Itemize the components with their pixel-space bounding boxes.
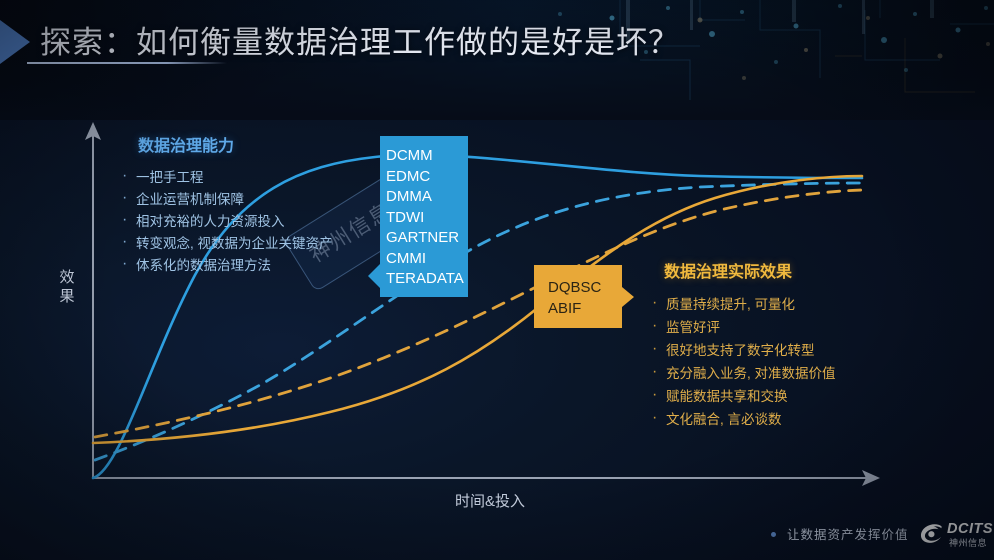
capability-bullet-list: 一把手工程 企业运营机制保障 相对充裕的人力资源投入 转变观念, 视数据为企业关… bbox=[120, 167, 370, 277]
list-item: 体系化的数据治理方法 bbox=[120, 255, 370, 277]
y-axis-label: 效果 bbox=[56, 268, 78, 306]
footer-bullet-icon bbox=[771, 532, 776, 537]
list-item: 监管好评 bbox=[650, 316, 900, 339]
list-item: EDMC bbox=[386, 167, 468, 188]
list-item: 充分融入业务, 对准数据价值 bbox=[650, 362, 900, 385]
effect-panel-title: 数据治理实际效果 bbox=[664, 258, 900, 282]
effect-panel: 数据治理实际效果 质量持续提升, 可量化 监管好评 很好地支持了数字化转型 充分… bbox=[650, 258, 900, 431]
metrics-callout-orange: DQBSC ABIF bbox=[534, 265, 634, 328]
list-item: DMMA bbox=[386, 187, 468, 208]
dcits-swoosh-icon bbox=[920, 523, 944, 545]
list-item: 企业运营机制保障 bbox=[120, 189, 370, 211]
list-item: CMMI bbox=[386, 249, 468, 270]
list-item: ABIF bbox=[548, 298, 634, 319]
list-item: GARTNER bbox=[386, 228, 468, 249]
footer-slogan: 让数据资产发挥价值 bbox=[787, 524, 909, 543]
list-item: 质量持续提升, 可量化 bbox=[650, 293, 900, 316]
standards-list: DCMM EDMC DMMA TDWI GARTNER CMMI TERADAT… bbox=[368, 136, 468, 290]
list-item: 一把手工程 bbox=[120, 167, 370, 189]
effect-bullet-list: 质量持续提升, 可量化 监管好评 很好地支持了数字化转型 充分融入业务, 对准数… bbox=[650, 293, 900, 431]
list-item: DQBSC bbox=[548, 277, 634, 298]
slide-root: 探索：如何衡量数据治理工作做的是好是坏？ 效果 时间&投入 神州信息 东方总 数… bbox=[0, 0, 994, 560]
capability-panel-title: 数据治理能力 bbox=[138, 132, 370, 156]
list-item: TDWI bbox=[386, 208, 468, 229]
company-logo: DCITS 神州信息 bbox=[920, 521, 990, 547]
standards-callout-blue: DCMM EDMC DMMA TDWI GARTNER CMMI TERADAT… bbox=[368, 136, 468, 297]
list-item: 赋能数据共享和交换 bbox=[650, 385, 900, 408]
list-item: 相对充裕的人力资源投入 bbox=[120, 211, 370, 233]
list-item: 很好地支持了数字化转型 bbox=[650, 339, 900, 362]
list-item: DCMM bbox=[386, 146, 468, 167]
list-item: 转变观念, 视数据为企业关键资产 bbox=[120, 233, 370, 255]
metrics-list: DQBSC ABIF bbox=[534, 265, 634, 319]
capability-panel: 数据治理能力 一把手工程 企业运营机制保障 相对充裕的人力资源投入 转变观念, … bbox=[120, 132, 370, 277]
logo-wordmark: DCITS bbox=[947, 521, 993, 537]
list-item: TERADATA bbox=[386, 269, 468, 290]
logo-chinese-name: 神州信息 bbox=[949, 536, 987, 549]
x-axis-label: 时间&投入 bbox=[455, 490, 525, 511]
list-item: 文化融合, 言必谈数 bbox=[650, 408, 900, 431]
